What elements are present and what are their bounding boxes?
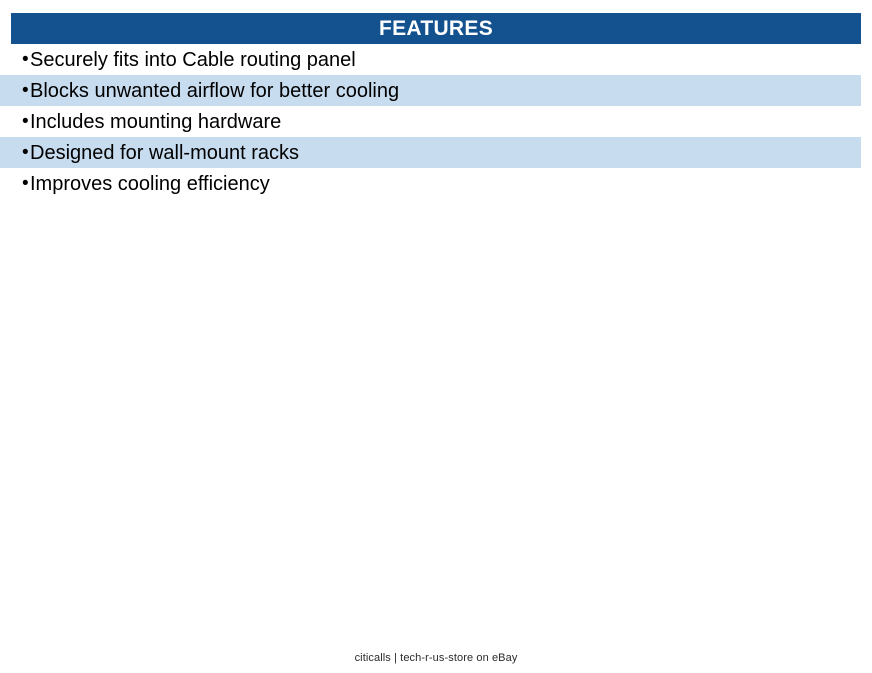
features-header-title: FEATURES (379, 18, 493, 39)
footer-store-credit: citicalls | tech-r-us-store on eBay (355, 652, 518, 664)
bullet-icon: • (11, 112, 30, 131)
features-table: FEATURES • Securely fits into Cable rout… (11, 13, 861, 199)
features-table-header: FEATURES (11, 13, 861, 44)
bullet-icon: • (11, 174, 30, 193)
feature-text: Improves cooling efficiency (30, 174, 270, 194)
list-item: • Includes mounting hardware (0, 106, 861, 137)
feature-text: Includes mounting hardware (30, 112, 281, 132)
list-item: • Securely fits into Cable routing panel (0, 44, 861, 75)
bullet-icon: • (11, 81, 30, 100)
features-list: • Securely fits into Cable routing panel… (11, 44, 861, 199)
feature-text: Blocks unwanted airflow for better cooli… (30, 81, 399, 101)
list-item: • Improves cooling efficiency (0, 168, 861, 199)
list-item: • Blocks unwanted airflow for better coo… (0, 75, 861, 106)
feature-text: Designed for wall-mount racks (30, 143, 299, 163)
feature-text: Securely fits into Cable routing panel (30, 50, 356, 70)
bullet-icon: • (11, 143, 30, 162)
page-canvas: FEATURES • Securely fits into Cable rout… (0, 0, 872, 673)
list-item: • Designed for wall-mount racks (0, 137, 861, 168)
page-footer: citicalls | tech-r-us-store on eBay (0, 648, 872, 666)
bullet-icon: • (11, 50, 30, 69)
